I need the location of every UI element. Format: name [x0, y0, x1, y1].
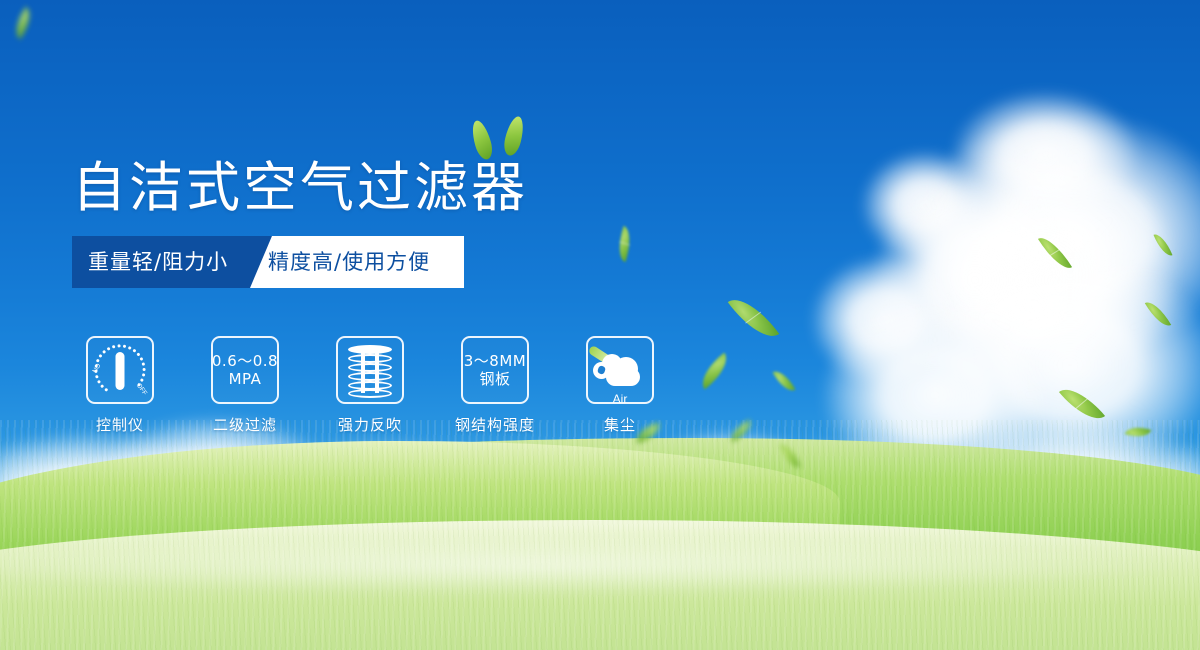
feature-caption: 二级过滤 [213, 414, 277, 435]
feature-caption: 钢结构强度 [455, 414, 535, 435]
feature-text-line1: 3～8MM [464, 352, 526, 370]
dial-label-on: NO [91, 363, 102, 375]
dial-label-off: OFF [135, 382, 148, 397]
feature-text-line2: 钢板 [479, 370, 510, 388]
feature-icon-box: 3～8MM 钢板 [461, 336, 529, 404]
grass-field [0, 420, 1200, 650]
feature-caption: 集尘 [604, 414, 636, 435]
feature-item-strong-blowback[interactable]: 强力反吹 [322, 336, 418, 435]
feature-text-line1: 0.6～0.8 [212, 352, 278, 370]
feature-item-steel-strength[interactable]: 3～8MM 钢板 钢结构强度 [447, 336, 543, 435]
feature-caption: 强力反吹 [338, 414, 402, 435]
page-title: 自洁式空气过滤器 [72, 143, 528, 222]
feature-caption: 控制仪 [96, 414, 144, 435]
feature-list: NO OFF 控制仪 0.6～0.8 MPA 二级过滤 [72, 336, 668, 435]
slogan-banner: 重量轻/阻力小 精度高/使用方便 [72, 236, 464, 288]
cloud-air-label: Air [592, 392, 648, 406]
dial-icon: NO OFF [92, 343, 148, 397]
feature-text-line2: MPA [229, 370, 262, 388]
feature-icon-box [336, 336, 404, 404]
hero-banner: 自洁式空气过滤器 重量轻/阻力小 精度高/使用方便 [0, 0, 1200, 650]
feature-item-control-unit[interactable]: NO OFF 控制仪 [72, 336, 168, 435]
dial-pointer [116, 352, 125, 390]
feature-icon-box: 0.6～0.8 MPA [211, 336, 279, 404]
filter-coil-icon [348, 344, 392, 396]
feature-icon-box: NO OFF [86, 336, 154, 404]
slogan-left-text: 重量轻/阻力小 [88, 236, 228, 288]
feature-item-dust-collection[interactable]: Air 集尘 [572, 336, 668, 435]
field-path [0, 535, 1200, 595]
cloud-puff [606, 368, 640, 386]
feature-item-two-stage-filter[interactable]: 0.6～0.8 MPA 二级过滤 [197, 336, 293, 435]
feature-icon-box: Air [586, 336, 654, 404]
slogan-right-text: 精度高/使用方便 [268, 236, 430, 288]
cloud-air-icon: Air [592, 348, 648, 392]
